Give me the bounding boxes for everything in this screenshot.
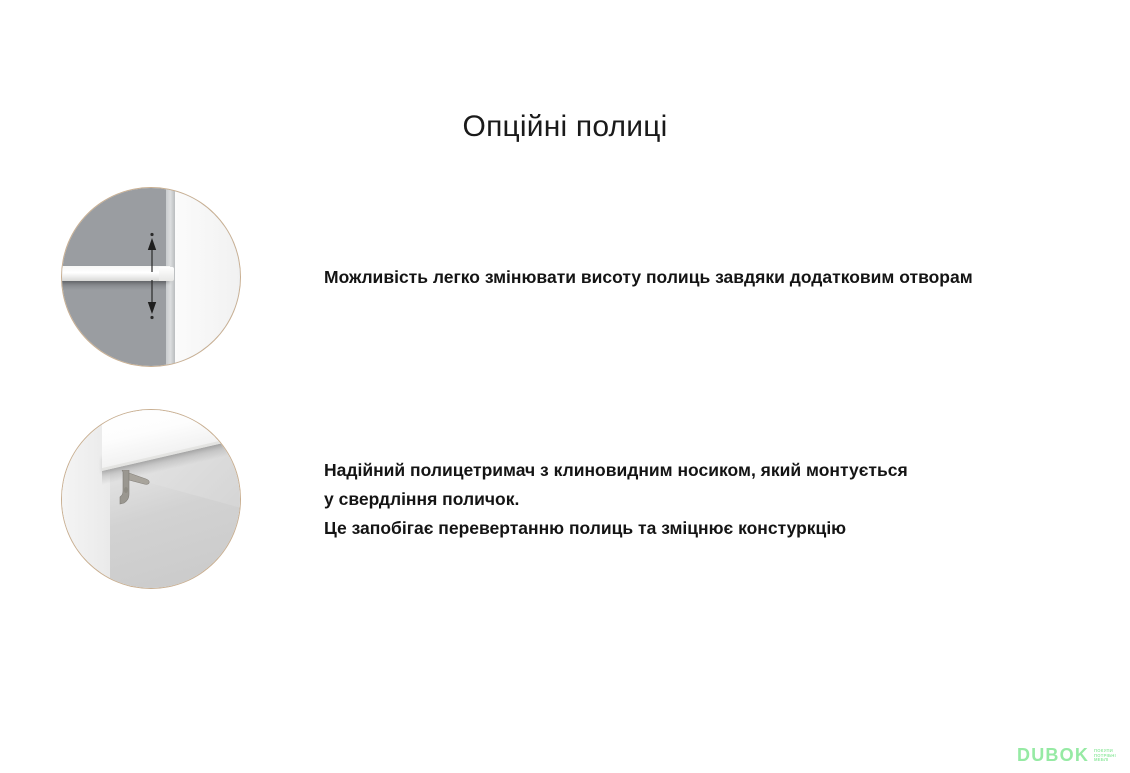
- feature-text-shelf-holder: Надійний полицетримач з клиновидним носи…: [324, 456, 908, 543]
- brand-logo: DUBOK ПОКУПИ ПОТРІБНІ МЕБЛІ: [1017, 746, 1116, 765]
- feature-text-line: Надійний полицетримач з клиновидним носи…: [324, 456, 908, 485]
- feature-text-shelf-height-adjust: Можливість легко змінювати висоту полиць…: [324, 263, 973, 292]
- feature-row-shelf-holder: Надійний полицетримач з клиновидним носи…: [62, 410, 908, 588]
- feature-text-line: Це запобігає перевертанню полиць та зміц…: [324, 514, 908, 543]
- brand-tagline-line: МЕБЛІ: [1094, 758, 1116, 763]
- brand-logo-tagline: ПОКУПИ ПОТРІБНІ МЕБЛІ: [1094, 749, 1116, 765]
- feature-text-line: у свердління поличок.: [324, 485, 908, 514]
- feature-row-shelf-height-adjust: Можливість легко змінювати висоту полиць…: [62, 188, 973, 366]
- white-shelf-edge: [159, 267, 174, 281]
- page-title: Опційні полиці: [0, 108, 1130, 146]
- slide-canvas: Опційні полиці Мож: [0, 0, 1130, 773]
- shelf-height-photo-scene: [62, 188, 240, 366]
- up-down-arrow-icon: [145, 232, 159, 320]
- cabinet-panel-face: [175, 188, 240, 366]
- feature-text-line: Можливість легко змінювати висоту полиць…: [324, 263, 973, 292]
- brand-logo-wordmark: DUBOK: [1017, 746, 1089, 765]
- shelf-support-pin-icon: [118, 470, 152, 506]
- shelf-holder-photo: [62, 410, 240, 588]
- shelf-height-photo: [62, 188, 240, 366]
- shelf-holder-photo-scene: [62, 410, 240, 588]
